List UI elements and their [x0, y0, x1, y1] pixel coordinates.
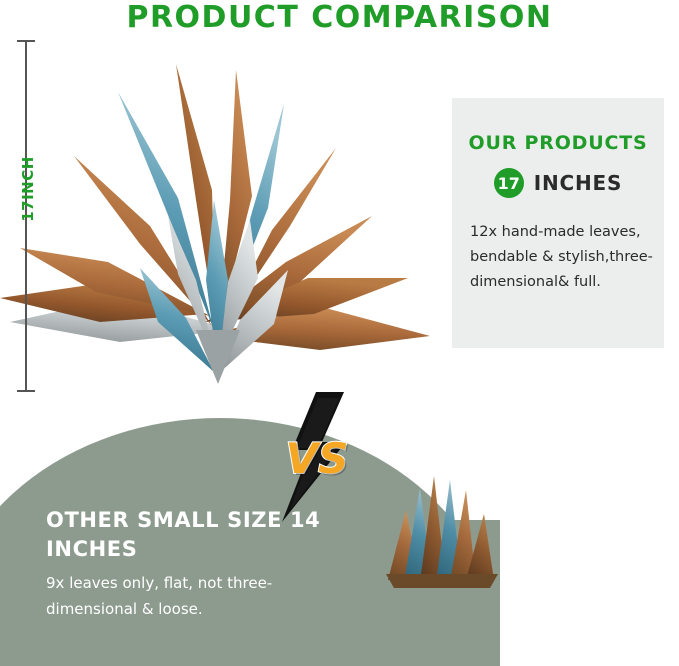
our-products-heading: OUR PRODUCTS: [452, 132, 664, 154]
size-badge: 17: [494, 168, 524, 198]
metal-agave-plant-small-image: [380, 470, 510, 590]
our-products-card: OUR PRODUCTS 17 INCHES 12x hand-made lea…: [452, 98, 664, 348]
measurement-cap-top: [17, 40, 35, 42]
our-products-badge-row: 17 INCHES: [452, 168, 664, 198]
product-comparison-infographic: PRODUCT COMPARISON: [0, 0, 679, 666]
size-unit-label: INCHES: [534, 171, 622, 195]
our-products-description: 12x hand-made leaves, bendable & stylish…: [470, 220, 654, 295]
other-product-description: 9x leaves only, flat, not three-dimensio…: [46, 570, 306, 622]
versus-label: VS: [262, 434, 372, 483]
versus-badge: VS: [262, 392, 372, 522]
height-measurement-bar: 17INCH: [14, 40, 50, 392]
other-product-title: OTHER SMALL SIZE 14 INCHES: [46, 506, 376, 564]
metal-agave-plant-large-image: [0, 30, 440, 420]
measurement-cap-bottom: [17, 390, 35, 392]
measurement-label: 17INCH: [19, 129, 37, 249]
